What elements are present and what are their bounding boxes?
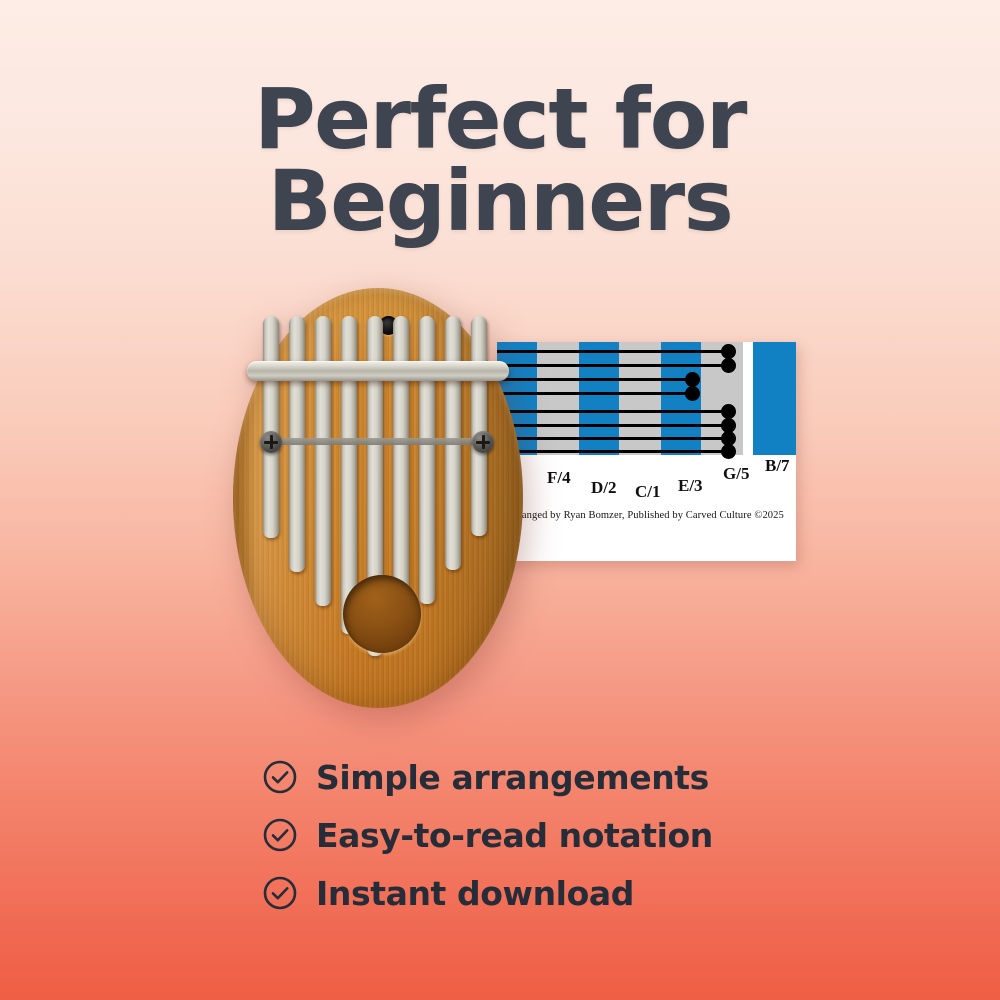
note-label-G-5: G/5 <box>723 464 749 484</box>
note-label-C-1: C/1 <box>635 482 661 502</box>
note-label-E-3: E/3 <box>678 476 703 496</box>
tablature-note-labels: F/4D/2C/1E/3G/5B/7 <box>497 452 796 492</box>
checklist-item: Simple arrangements <box>262 748 782 806</box>
staff-line-5 <box>497 424 729 427</box>
page-title-line-2: Beginners <box>0 160 1000 242</box>
kalimba-bridge-bar <box>247 361 509 381</box>
sheet-credit-text: Arranged by Ryan Bomzer, Published by Ca… <box>507 510 784 521</box>
note-label-B-7: B/7 <box>765 456 790 476</box>
circle-check-icon <box>262 759 298 795</box>
note-label-F-4: F/4 <box>547 468 571 488</box>
sheet-music-card: F/4D/2C/1E/3G/5B/7 Arranged by Ryan Bomz… <box>497 342 796 561</box>
kalimba-tine-3 <box>315 316 331 606</box>
note-label-D-2: D/2 <box>591 478 617 498</box>
kalimba-tine-7 <box>419 316 435 604</box>
kalimba-tine-1 <box>263 316 279 538</box>
kalimba-screw-right <box>472 431 494 453</box>
staff-line-0 <box>497 350 729 353</box>
staff-line-1 <box>497 364 729 367</box>
checklist-item: Easy-to-read notation <box>262 806 782 864</box>
note-dot-0 <box>721 344 736 359</box>
note-dot-3 <box>685 386 700 401</box>
page-title: Perfect for Beginners <box>0 78 1000 243</box>
staff-line-3 <box>497 392 693 395</box>
circle-check-icon <box>262 817 298 853</box>
note-dot-1 <box>721 358 736 373</box>
note-dot-2 <box>685 372 700 387</box>
checklist-item-label: Instant download <box>316 874 634 913</box>
checklist-item-label: Easy-to-read notation <box>316 816 713 855</box>
note-dot-4 <box>721 404 736 419</box>
circle-check-icon <box>262 875 298 911</box>
kalimba-sound-hole <box>343 575 421 653</box>
feature-checklist: Simple arrangementsEasy-to-read notation… <box>262 748 782 922</box>
kalimba-tine-9 <box>471 316 487 536</box>
kalimba-instrument <box>233 288 523 708</box>
tablature-staff-lines <box>497 342 796 455</box>
staff-line-6 <box>497 437 729 440</box>
staff-line-2 <box>497 378 693 381</box>
checklist-item-label: Simple arrangements <box>316 758 709 797</box>
staff-line-4 <box>497 410 729 413</box>
kalimba-screw-left <box>260 431 282 453</box>
checklist-item: Instant download <box>262 864 782 922</box>
kalimba-lower-bar <box>275 438 481 445</box>
